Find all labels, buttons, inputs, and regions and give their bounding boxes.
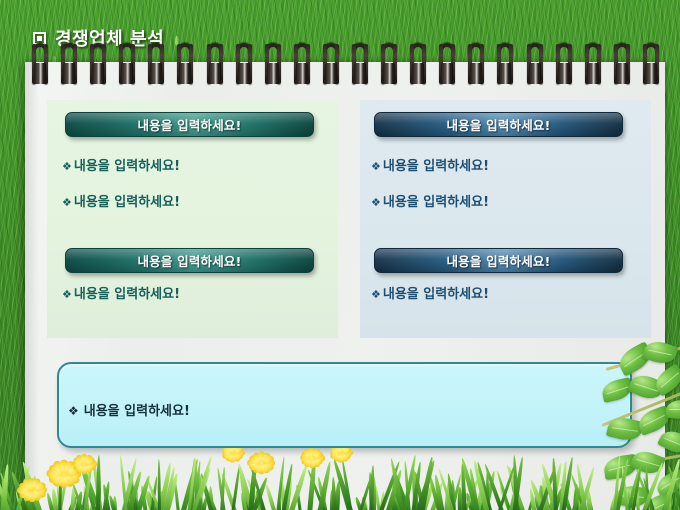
spiral-ring [613, 44, 634, 84]
left-section-2-bullet-1[interactable]: ❖ 내용을 입력하세요! [62, 283, 180, 302]
spiral-ring [60, 44, 81, 84]
right-section-1-bullet-2-label: 내용을 입력하세요! [383, 191, 489, 210]
right-section-1-header-label: 내용을 입력하세요! [446, 115, 550, 134]
right-section-2-header[interactable]: 내용을 입력하세요! [374, 248, 623, 273]
spiral-binding [25, 44, 665, 84]
left-section-2-header-label: 내용을 입력하세요! [137, 251, 241, 270]
left-section-2-bullet-1-label: 내용을 입력하세요! [74, 283, 180, 302]
spiral-ring [496, 44, 517, 84]
spiral-ring [118, 44, 139, 84]
left-section-1-header[interactable]: 내용을 입력하세요! [65, 112, 314, 137]
left-section-1-header-label: 내용을 입력하세요! [137, 115, 241, 134]
diamond-bullet-icon: ❖ [371, 197, 381, 208]
diamond-bullet-icon: ❖ [62, 161, 72, 172]
diamond-bullet-icon: ❖ [371, 161, 381, 172]
spiral-ring [293, 44, 314, 84]
spiral-ring [438, 44, 459, 84]
left-section-1-bullet-1[interactable]: ❖ 내용을 입력하세요! [62, 155, 180, 174]
spiral-ring [176, 44, 197, 84]
slide-canvas: 경쟁업체 분석 내용을 입력하세요! ❖ 내용을 입력하세요! ❖ 내용을 입력… [0, 0, 680, 510]
spiral-ring [89, 44, 110, 84]
spiral-ring [31, 44, 52, 84]
spiral-ring [380, 44, 401, 84]
left-section-1-bullet-2-label: 내용을 입력하세요! [74, 191, 180, 210]
spiral-ring [409, 44, 430, 84]
diamond-bullet-icon: ❖ [371, 289, 381, 300]
right-section-1-bullet-2[interactable]: ❖ 내용을 입력하세요! [371, 191, 489, 210]
spiral-ring [147, 44, 168, 84]
spiral-ring [555, 44, 576, 84]
right-section-1-bullet-1-label: 내용을 입력하세요! [383, 155, 489, 174]
right-section-2-bullet-1[interactable]: ❖ 내용을 입력하세요! [371, 283, 489, 302]
spiral-ring [235, 44, 256, 84]
diamond-bullet-icon: ❖ [68, 405, 79, 417]
left-section-1-bullet-2[interactable]: ❖ 내용을 입력하세요! [62, 191, 180, 210]
right-section-1-header[interactable]: 내용을 입력하세요! [374, 112, 623, 137]
spiral-ring [467, 44, 488, 84]
spiral-ring [351, 44, 372, 84]
spiral-ring [642, 44, 663, 84]
right-section-2-header-label: 내용을 입력하세요! [446, 251, 550, 270]
spiral-ring [264, 44, 285, 84]
bottom-note-bullet[interactable]: ❖ 내용을 입력하세요! [68, 400, 190, 419]
right-section-1-bullet-1[interactable]: ❖ 내용을 입력하세요! [371, 155, 489, 174]
diamond-bullet-icon: ❖ [62, 197, 72, 208]
spiral-ring [526, 44, 547, 84]
left-section-2-header[interactable]: 내용을 입력하세요! [65, 248, 314, 273]
spiral-ring [584, 44, 605, 84]
right-section-2-bullet-1-label: 내용을 입력하세요! [383, 283, 489, 302]
bottom-note-label: 내용을 입력하세요! [84, 400, 190, 419]
left-section-1-bullet-1-label: 내용을 입력하세요! [74, 155, 180, 174]
spiral-ring [206, 44, 227, 84]
spiral-ring [322, 44, 343, 84]
diamond-bullet-icon: ❖ [62, 289, 72, 300]
